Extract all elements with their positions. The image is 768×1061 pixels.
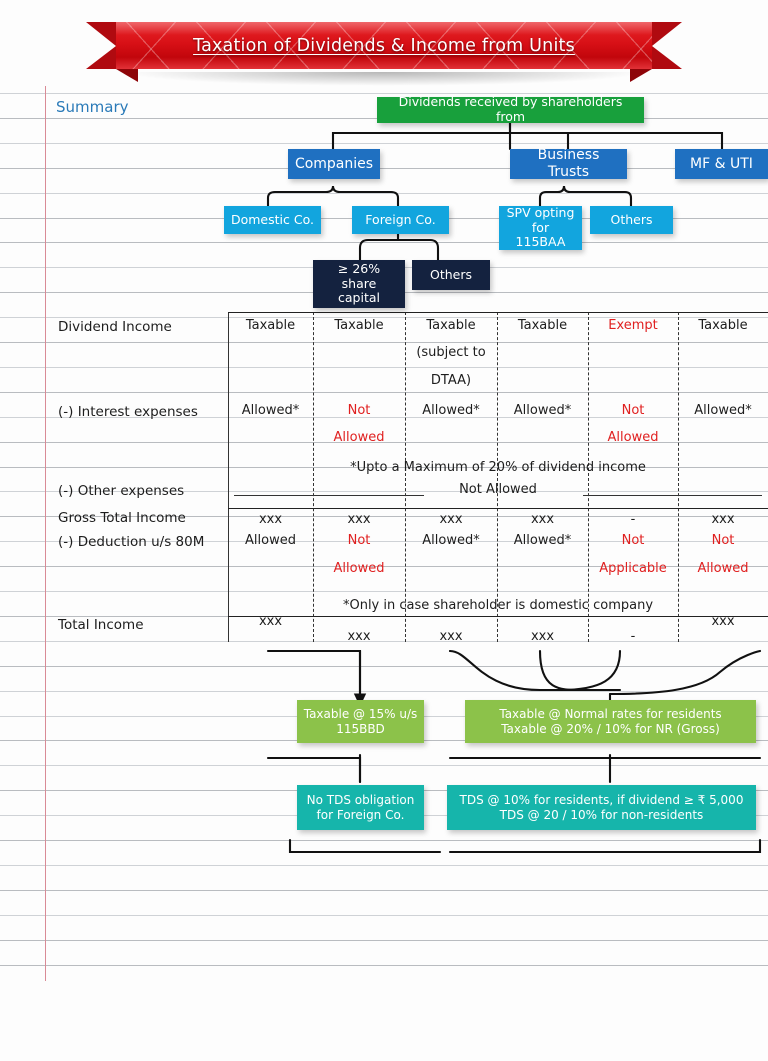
cell-interest-4: Not bbox=[588, 404, 678, 417]
row-label-deduction-80m: (-) Deduction u/s 80M bbox=[58, 534, 204, 550]
page-title: Taxation of Dividends & Income from Unit… bbox=[116, 22, 652, 69]
title-banner: Taxation of Dividends & Income from Unit… bbox=[86, 22, 682, 84]
ruled-line bbox=[0, 890, 768, 891]
cell-80m-4b: Applicable bbox=[588, 562, 678, 575]
cell-dividend-income-2: Taxable bbox=[405, 319, 497, 332]
table-column-divider bbox=[405, 312, 406, 642]
row-label-dividend-income: Dividend Income bbox=[58, 319, 172, 335]
banner-tail-left bbox=[86, 22, 116, 69]
cell-interest-1b: Allowed bbox=[313, 431, 405, 444]
flow-box-26pct-share-capital[interactable]: ≥ 26% share capital bbox=[313, 260, 405, 308]
flow-box-spv-115baa[interactable]: SPV opting for 115BAA bbox=[499, 206, 582, 250]
ruled-line bbox=[0, 666, 768, 667]
cell-interest-0: Allowed* bbox=[228, 404, 313, 417]
table-rule bbox=[234, 495, 424, 496]
cell-ti-1: xxx bbox=[313, 630, 405, 643]
table-column-divider bbox=[313, 312, 314, 642]
flow-box-others-foreign[interactable]: Others bbox=[412, 260, 490, 290]
cell-gti-1: xxx bbox=[313, 513, 405, 526]
ruled-line bbox=[0, 865, 768, 866]
cell-80m-1: Not bbox=[313, 534, 405, 547]
cell-gti-2: xxx bbox=[405, 513, 497, 526]
flow-box-companies[interactable]: Companies bbox=[288, 149, 380, 179]
cell-interest-2: Allowed* bbox=[405, 404, 497, 417]
cell-dividend-income-2b: (subject to bbox=[405, 346, 497, 359]
cell-80m-5b: Allowed bbox=[678, 562, 768, 575]
outcome-box-115bbd[interactable]: Taxable @ 15% u/s 115BBD bbox=[297, 700, 424, 743]
cell-80m-5: Not bbox=[678, 534, 768, 547]
cell-ti-3: xxx bbox=[497, 630, 588, 643]
cell-ti-5: xxx bbox=[678, 615, 768, 628]
flow-box-mf-uti[interactable]: MF & UTI bbox=[675, 149, 768, 179]
cell-gti-4: - bbox=[588, 513, 678, 526]
flow-box-root[interactable]: Dividends received by shareholders from bbox=[377, 97, 644, 123]
cell-dividend-income-5: Taxable bbox=[678, 319, 768, 332]
ruled-line bbox=[0, 915, 768, 916]
table-rule bbox=[228, 508, 768, 509]
cell-80m-4: Not bbox=[588, 534, 678, 547]
tds-box-rates[interactable]: TDS @ 10% for residents, if dividend ≥ ₹… bbox=[447, 785, 756, 830]
table-rule bbox=[583, 495, 762, 496]
ruled-line bbox=[0, 168, 768, 169]
cell-interest-3: Allowed* bbox=[497, 404, 588, 417]
ruled-line bbox=[0, 965, 768, 966]
cell-dividend-income-0: Taxable bbox=[228, 319, 313, 332]
cell-80m-3: Allowed* bbox=[497, 534, 588, 547]
flow-box-business-trusts[interactable]: Business Trusts bbox=[510, 149, 627, 179]
cell-ti-2: xxx bbox=[405, 630, 497, 643]
ruled-line bbox=[0, 242, 768, 243]
cell-80m-0: Allowed bbox=[228, 534, 313, 547]
table-footnote-20pct: *Upto a Maximum of 20% of dividend incom… bbox=[228, 460, 768, 475]
cell-interest-5: Allowed* bbox=[678, 404, 768, 417]
summary-label: Summary bbox=[56, 98, 129, 116]
ruled-line bbox=[0, 765, 768, 766]
table-column-divider bbox=[497, 312, 498, 642]
cell-dividend-income-4: Exempt bbox=[588, 319, 678, 332]
cell-interest-1: Not bbox=[313, 404, 405, 417]
ruled-line bbox=[0, 93, 768, 94]
ruled-line bbox=[0, 691, 768, 692]
banner-shadow bbox=[122, 72, 646, 86]
row-label-other-expenses: (-) Other expenses bbox=[58, 483, 184, 499]
ruled-line bbox=[0, 193, 768, 194]
cell-gti-3: xxx bbox=[497, 513, 588, 526]
table-column-divider bbox=[588, 312, 589, 642]
cell-interest-4b: Allowed bbox=[588, 431, 678, 444]
row-label-interest-expenses: (-) Interest expenses bbox=[58, 404, 198, 420]
cell-80m-2: Allowed* bbox=[405, 534, 497, 547]
cell-dividend-income-3: Taxable bbox=[497, 319, 588, 332]
cell-80m-1b: Allowed bbox=[313, 562, 405, 575]
tds-box-foreign-co[interactable]: No TDS obligation for Foreign Co. bbox=[297, 785, 424, 830]
flow-box-others-trust[interactable]: Others bbox=[590, 206, 673, 234]
outcome-box-normal-rates[interactable]: Taxable @ Normal rates for residents Tax… bbox=[465, 700, 756, 743]
banner-tail-right bbox=[652, 22, 682, 69]
table-column-divider bbox=[678, 312, 679, 642]
ruled-line bbox=[0, 940, 768, 941]
flow-box-domestic-co[interactable]: Domestic Co. bbox=[224, 206, 321, 234]
table-column-divider bbox=[228, 312, 229, 642]
cell-dividend-income-1: Taxable bbox=[313, 319, 405, 332]
ruled-line bbox=[0, 143, 768, 144]
row-label-gross-total-income: Gross Total Income bbox=[58, 510, 186, 526]
ruled-line bbox=[0, 840, 768, 841]
table-footnote-domestic-company: *Only in case shareholder is domestic co… bbox=[228, 598, 768, 613]
flow-box-foreign-co[interactable]: Foreign Co. bbox=[352, 206, 449, 234]
cell-gti-5: xxx bbox=[678, 513, 768, 526]
cell-ti-4: - bbox=[588, 630, 678, 643]
cell-gti-0: xxx bbox=[228, 513, 313, 526]
cell-dividend-income-2c: DTAA) bbox=[405, 374, 497, 387]
table-rule bbox=[228, 312, 768, 313]
row-label-total-income: Total Income bbox=[58, 617, 144, 633]
comparison-table: Dividend IncomeTaxableTaxableTaxableTaxa… bbox=[46, 312, 768, 642]
cell-ti-0: xxx bbox=[228, 615, 313, 628]
